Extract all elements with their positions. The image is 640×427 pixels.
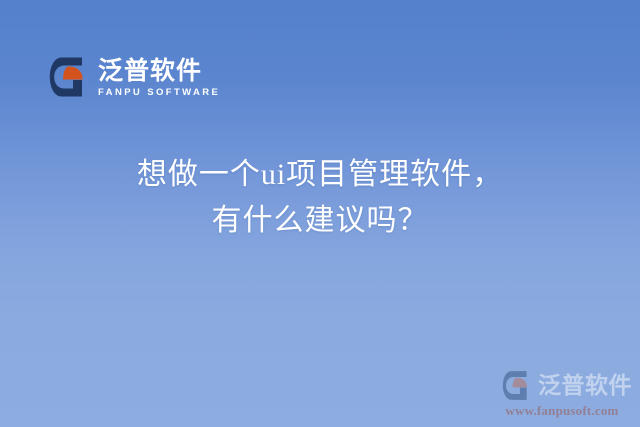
- fanpu-shield-logo-icon: [502, 370, 532, 401]
- watermark-logo: 泛普软件: [492, 370, 632, 401]
- watermark-url: www.fanpusoft.com: [492, 403, 632, 419]
- page-title: 想做一个ui项目管理软件， 有什么建议吗？: [0, 152, 640, 244]
- watermark: 泛普软件 www.fanpusoft.com: [492, 370, 632, 419]
- brand-name-en: FANPU SOFTWARE: [98, 87, 220, 98]
- brand-logo: 泛普软件 FANPU SOFTWARE: [49, 56, 220, 99]
- promo-banner: 泛普软件 FANPU SOFTWARE 想做一个ui项目管理软件， 有什么建议吗…: [0, 0, 640, 427]
- headline-line-2: 有什么建议吗？: [0, 198, 640, 244]
- brand-wordmark: 泛普软件 FANPU SOFTWARE: [98, 56, 220, 99]
- watermark-name-cn: 泛普软件: [538, 374, 632, 397]
- headline-line-1: 想做一个ui项目管理软件，: [0, 152, 640, 198]
- fanpu-shield-logo-icon: [49, 56, 89, 98]
- brand-name-cn: 泛普软件: [98, 58, 220, 84]
